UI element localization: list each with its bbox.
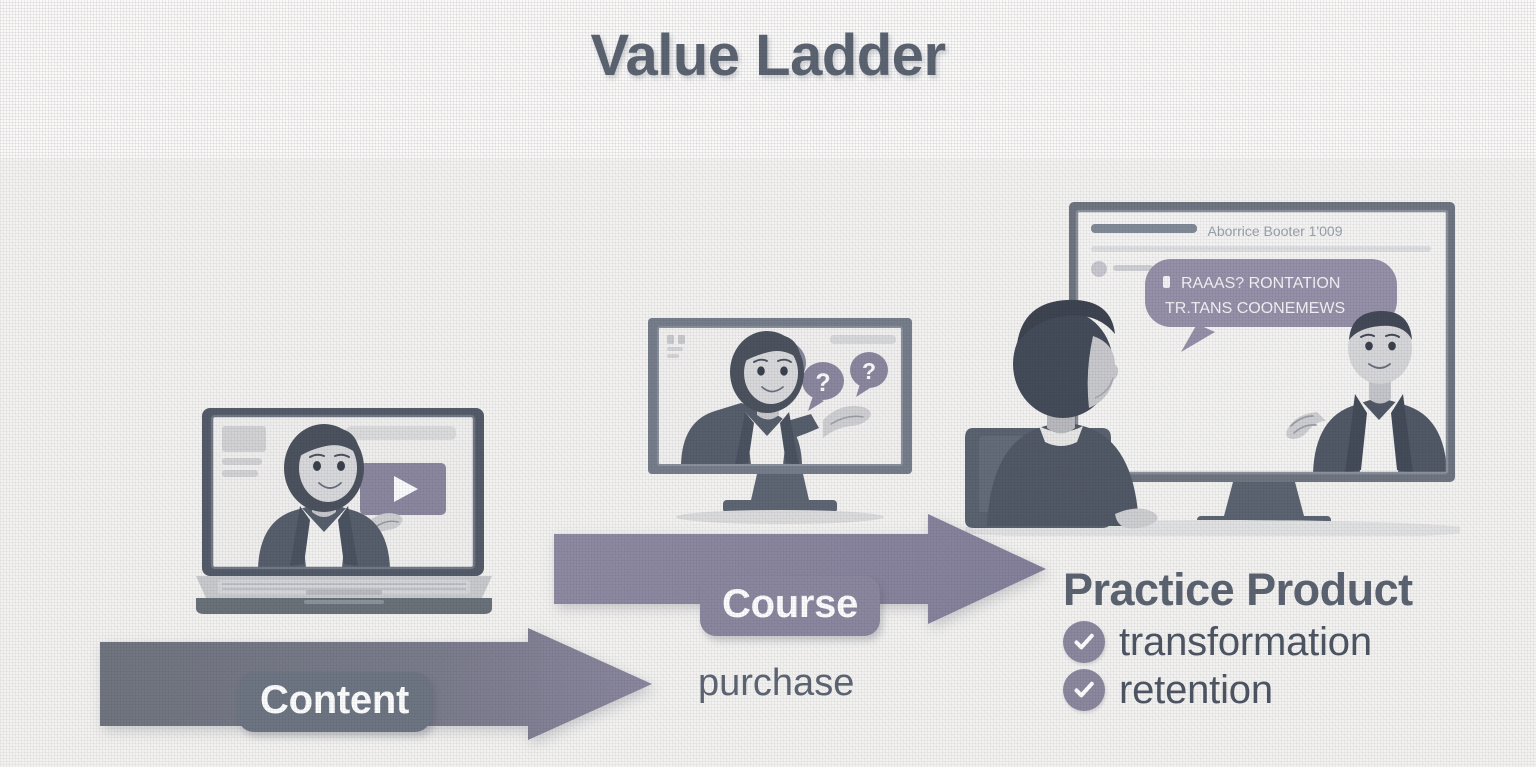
practice-product-heading: Practice Product	[1063, 566, 1413, 613]
svg-text:?: ?	[815, 369, 830, 397]
check-circle-icon	[1063, 669, 1105, 711]
badge-content[interactable]: Content	[238, 672, 431, 732]
bullet-label-retention: retention	[1119, 669, 1273, 711]
bubble-line-2: TR.TANS COONEMEWS	[1165, 300, 1345, 317]
check-circle-icon	[1063, 621, 1105, 663]
list-item: retention	[1063, 669, 1413, 711]
screen-header-text: Aborrice Booter 1'009	[1208, 223, 1343, 239]
svg-text:?: ?	[862, 358, 876, 384]
label-purchase: purchase	[698, 662, 854, 705]
desktop-monitor-device: ? ? ?	[645, 316, 915, 528]
bubble-line-1: RAAAS? RONTATION	[1181, 275, 1340, 292]
slide-canvas: Value Ladder	[0, 0, 1536, 767]
list-item: transformation	[1063, 621, 1413, 663]
page-title: Value Ladder	[0, 22, 1536, 89]
coaching-scene: Aborrice Booter 1'009 RAAAS? RONTATION T…	[965, 196, 1460, 536]
laptop-device	[196, 406, 492, 624]
bullet-label-transformation: transformation	[1119, 621, 1372, 663]
practice-product-block: Practice Product transformation retentio…	[1063, 566, 1413, 711]
badge-course[interactable]: Course	[700, 576, 880, 636]
